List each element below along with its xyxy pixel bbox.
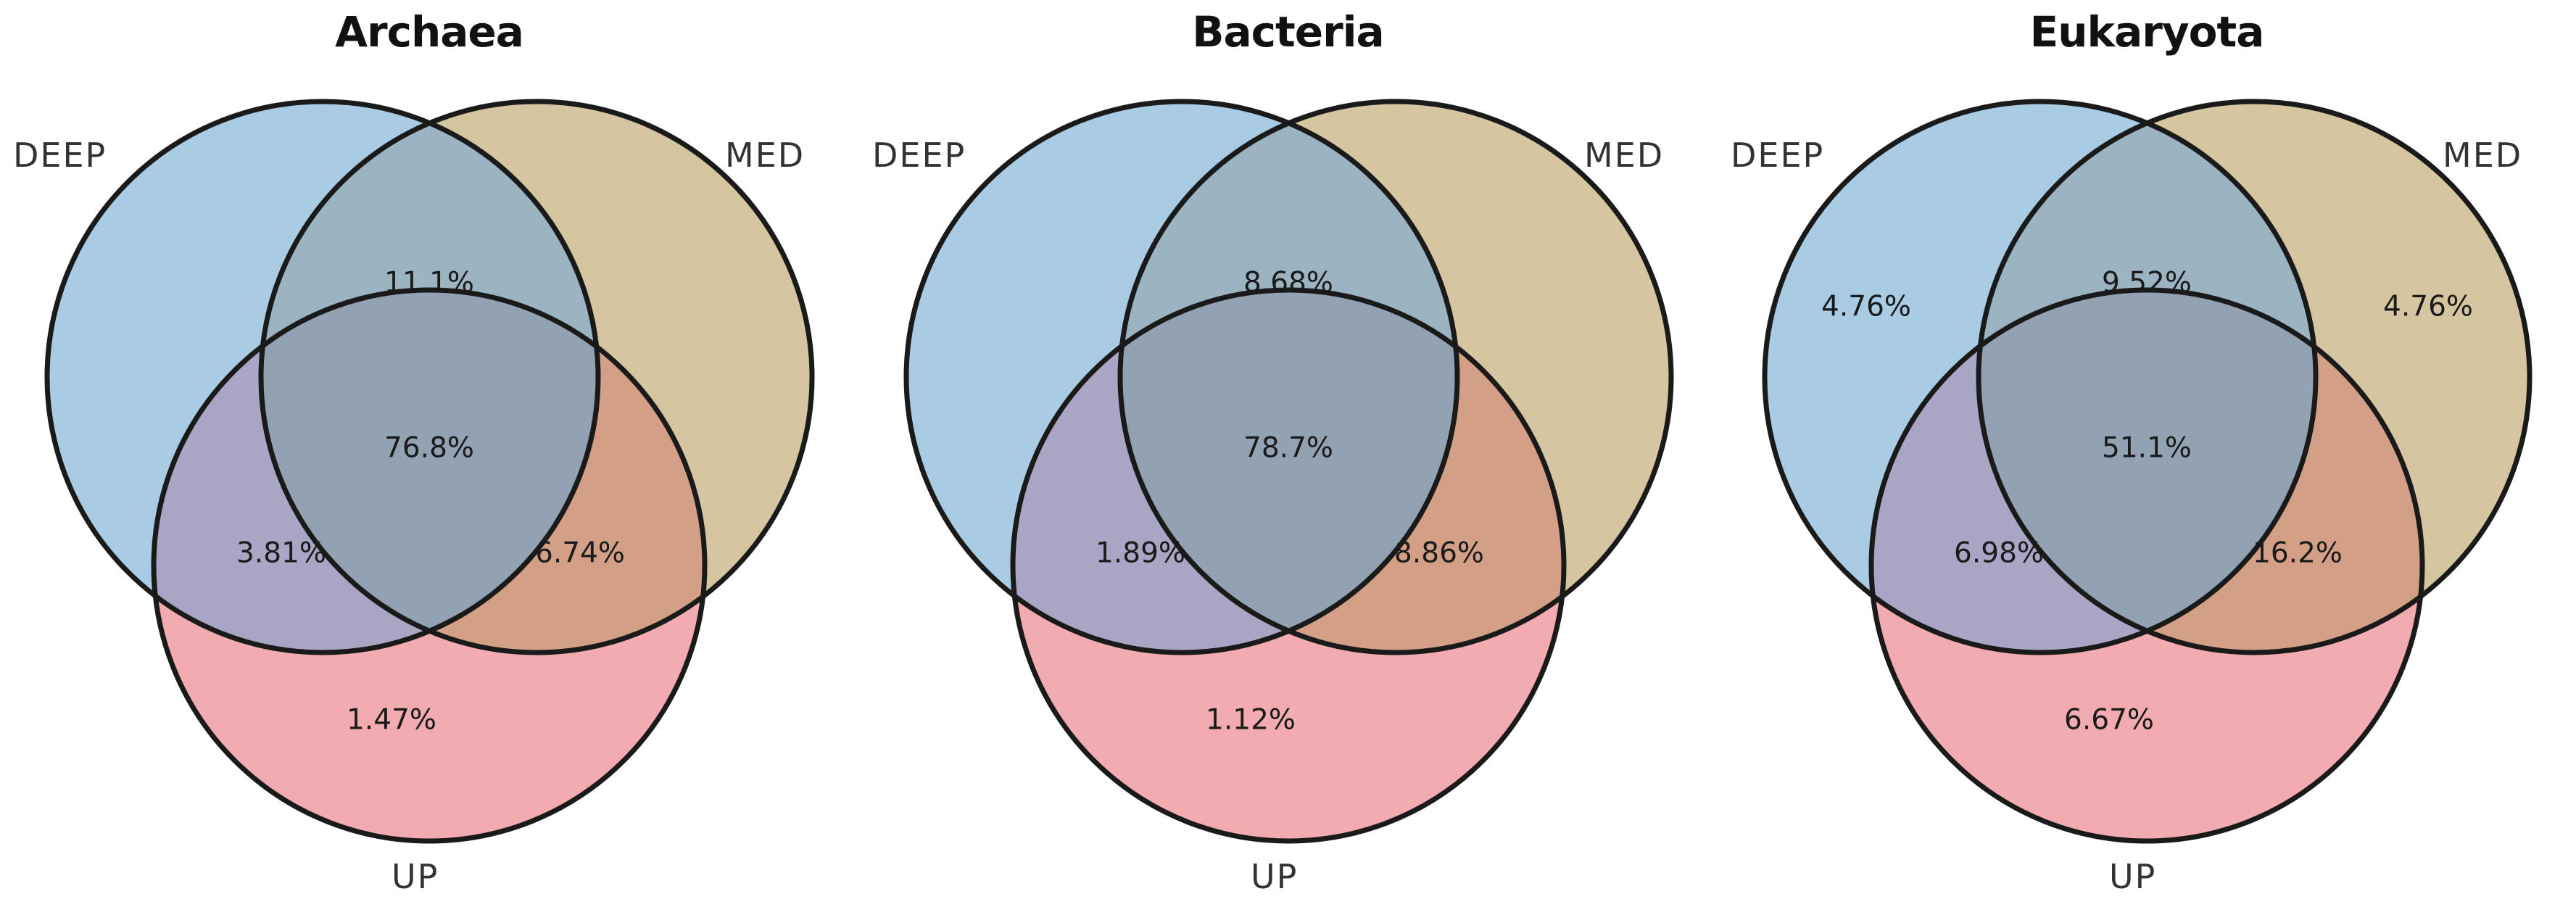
region-label-all-three: 78.7% (1243, 432, 1333, 465)
region-label-deep-up: 3.81% (236, 537, 326, 570)
venn-panel-bacteria: Bacteria (859, 0, 1718, 915)
region-label-deep-up: 6.98% (1954, 537, 2044, 570)
set-label-med: MED (725, 136, 805, 175)
region-label-med-up: 8.86% (1394, 537, 1484, 570)
set-label-med: MED (1584, 136, 1664, 175)
venn-figure: Archaea (0, 0, 2576, 915)
region-label-deep-only: 4.76% (1821, 291, 1911, 323)
venn-diagram-bacteria: DEEP MED UP 8.68% 78.7% 1.89% 8.86% 1.12… (859, 0, 1718, 915)
venn-panel-archaea: Archaea (0, 0, 858, 915)
set-label-up: UP (1251, 857, 1298, 896)
set-label-deep: DEEP (13, 136, 107, 175)
set-label-deep: DEEP (1731, 136, 1824, 175)
venn-diagram-eukaryota: DEEP MED UP 9.52% 51.1% 6.98% 16.2% 6.67… (1718, 0, 2576, 915)
region-label-deep-med: 8.68% (1243, 267, 1333, 299)
region-label-deep-up: 1.89% (1096, 537, 1185, 570)
region-label-up-only: 1.47% (347, 704, 436, 737)
set-label-deep: DEEP (872, 136, 966, 175)
region-label-up-only: 6.67% (2064, 704, 2154, 737)
region-label-deep-med: 9.52% (2102, 267, 2192, 299)
set-label-up: UP (2109, 857, 2156, 896)
region-label-up-only: 1.12% (1206, 704, 1296, 737)
venn-panel-eukaryota: Eukaryota (1718, 0, 2576, 915)
region-label-med-up: 6.74% (535, 537, 625, 570)
set-label-med: MED (2443, 136, 2522, 175)
region-label-all-three: 76.8% (384, 432, 474, 465)
region-label-deep-med: 11.1% (384, 267, 474, 299)
region-label-med-up: 16.2% (2253, 537, 2343, 570)
venn-diagram-archaea: DEEP MED UP 11.1% 76.8% 3.81% 6.74% 1.47… (0, 0, 858, 915)
region-label-med-only: 4.76% (2383, 291, 2473, 323)
region-label-all-three: 51.1% (2102, 432, 2192, 465)
set-label-up: UP (392, 857, 439, 896)
